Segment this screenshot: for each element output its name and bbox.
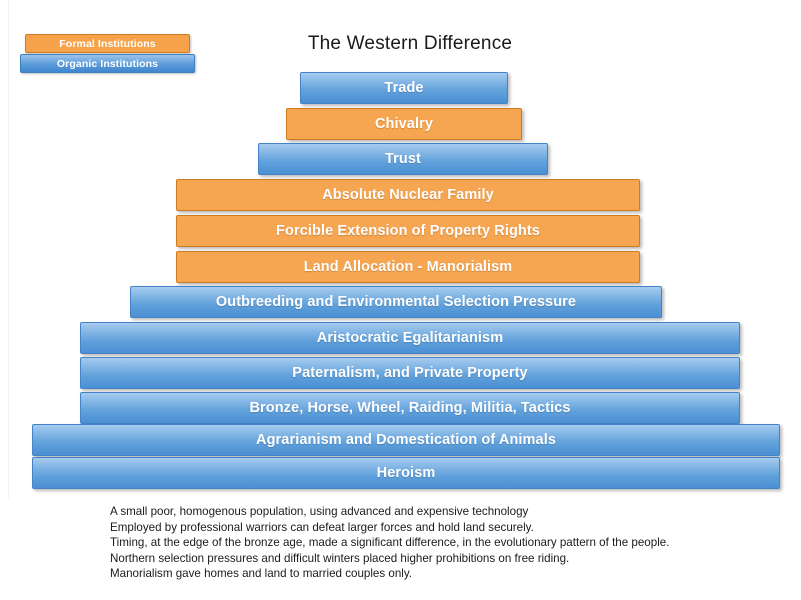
pyramid-bar: Chivalry [286, 108, 522, 140]
pyramid-bar-label: Trade [384, 80, 423, 96]
pyramid-bar-label: Forcible Extension of Property Rights [276, 223, 540, 239]
pyramid-bar: Paternalism, and Private Property [80, 357, 740, 389]
pyramid-bar-label: Paternalism, and Private Property [292, 365, 527, 381]
pyramid-bar: Bronze, Horse, Wheel, Raiding, Militia, … [80, 392, 740, 424]
footnote-line: A small poor, homogenous population, usi… [110, 504, 770, 520]
slide-canvas: Formal Institutions Organic Institutions… [0, 0, 801, 600]
pyramid-bar-label: Outbreeding and Environmental Selection … [216, 294, 576, 310]
pyramid-bar-label: Heroism [377, 465, 436, 481]
footnote-line: Northern selection pressures and difficu… [110, 551, 770, 567]
pyramid-bar: Trust [258, 143, 548, 175]
pyramid-bar-label: Agrarianism and Domestication of Animals [256, 432, 556, 448]
footnote-line: Employed by professional warriors can de… [110, 520, 770, 536]
pyramid-bar: Trade [300, 72, 508, 104]
footnote-line: Timing, at the edge of the bronze age, m… [110, 535, 770, 551]
pyramid-bar: Heroism [32, 457, 780, 489]
pyramid-bar: Outbreeding and Environmental Selection … [130, 286, 662, 318]
pyramid-bar-label: Trust [385, 151, 421, 167]
footnotes: A small poor, homogenous population, usi… [110, 504, 770, 582]
pyramid-bar-label: Aristocratic Egalitarianism [317, 330, 503, 346]
pyramid-bar-label: Chivalry [375, 116, 433, 132]
pyramid-bar: Agrarianism and Domestication of Animals [32, 424, 780, 456]
pyramid-bar: Forcible Extension of Property Rights [176, 215, 640, 247]
pyramid-chart: TradeChivalryTrustAbsolute Nuclear Famil… [0, 0, 801, 500]
pyramid-bar: Land Allocation - Manorialism [176, 251, 640, 283]
pyramid-bar-label: Bronze, Horse, Wheel, Raiding, Militia, … [249, 400, 570, 416]
pyramid-bar-label: Land Allocation - Manorialism [304, 259, 513, 275]
pyramid-bar: Aristocratic Egalitarianism [80, 322, 740, 354]
pyramid-bar: Absolute Nuclear Family [176, 179, 640, 211]
footnote-line: Manorialism gave homes and land to marri… [110, 566, 770, 582]
pyramid-bar-label: Absolute Nuclear Family [322, 187, 494, 203]
